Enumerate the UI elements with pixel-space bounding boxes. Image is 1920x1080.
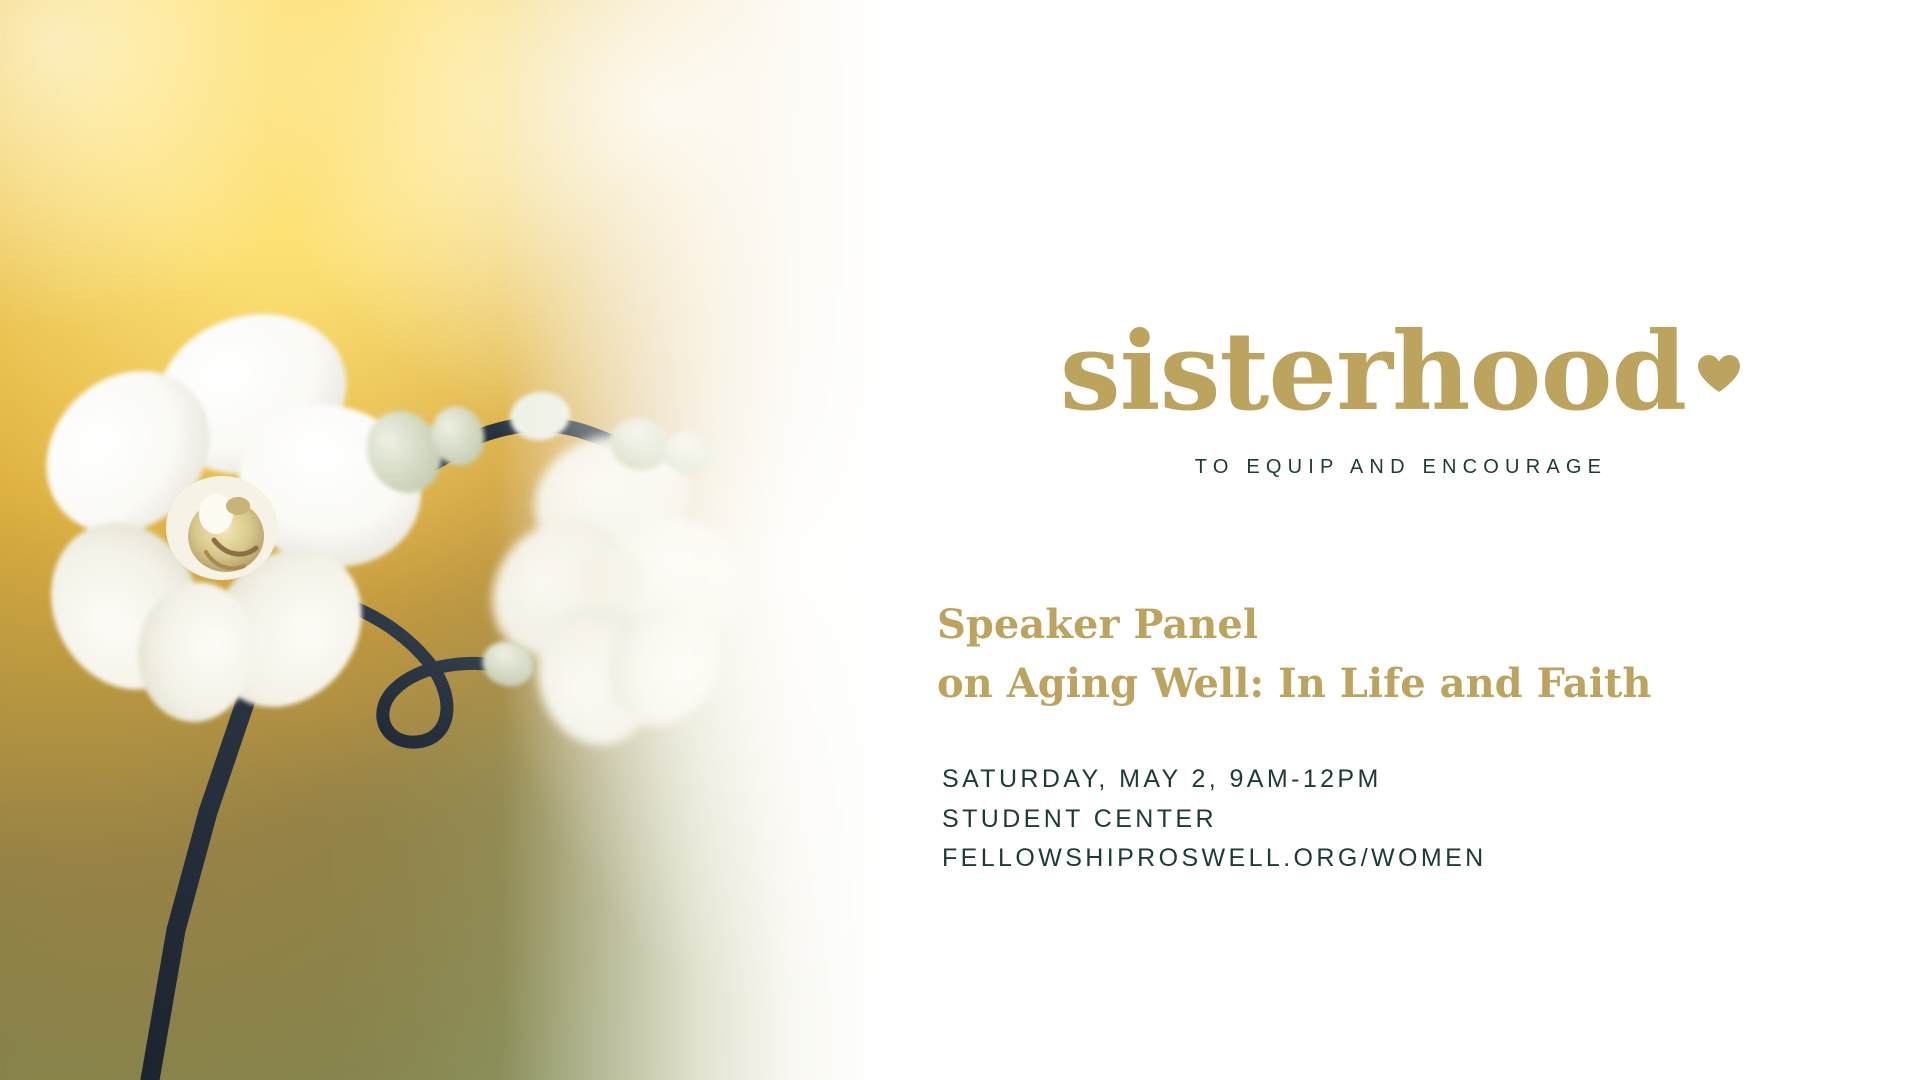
heart-icon xyxy=(1696,353,1742,400)
photo-edge-fade xyxy=(500,0,920,1080)
event-url[interactable]: FELLOWSHIPROSWELL.ORG/WOMEN xyxy=(942,839,1487,879)
promo-poster: sisterhood TO EQUIP AND ENCOURAGE Speake… xyxy=(0,0,1920,1080)
sisterhood-wordmark: sisterhood xyxy=(1060,318,1686,426)
event-datetime: SATURDAY, MAY 2, 9AM-12PM xyxy=(942,760,1487,800)
brand-block: sisterhood TO EQUIP AND ENCOURAGE xyxy=(920,318,1882,479)
brand-lockup: sisterhood xyxy=(920,318,1882,426)
content-panel: sisterhood TO EQUIP AND ENCOURAGE Speake… xyxy=(920,0,1920,1080)
event-details: SATURDAY, MAY 2, 9AM-12PM STUDENT CENTER… xyxy=(942,760,1487,879)
orchid-photo xyxy=(0,0,920,1080)
headline-line-2: on Aging Well: In Life and Faith xyxy=(937,654,1651,713)
event-location: STUDENT CENTER xyxy=(942,800,1487,840)
brand-tagline: TO EQUIP AND ENCOURAGE xyxy=(920,456,1882,479)
event-headline: Speaker Panel on Aging Well: In Life and… xyxy=(937,595,1651,713)
headline-line-1: Speaker Panel xyxy=(937,595,1651,654)
